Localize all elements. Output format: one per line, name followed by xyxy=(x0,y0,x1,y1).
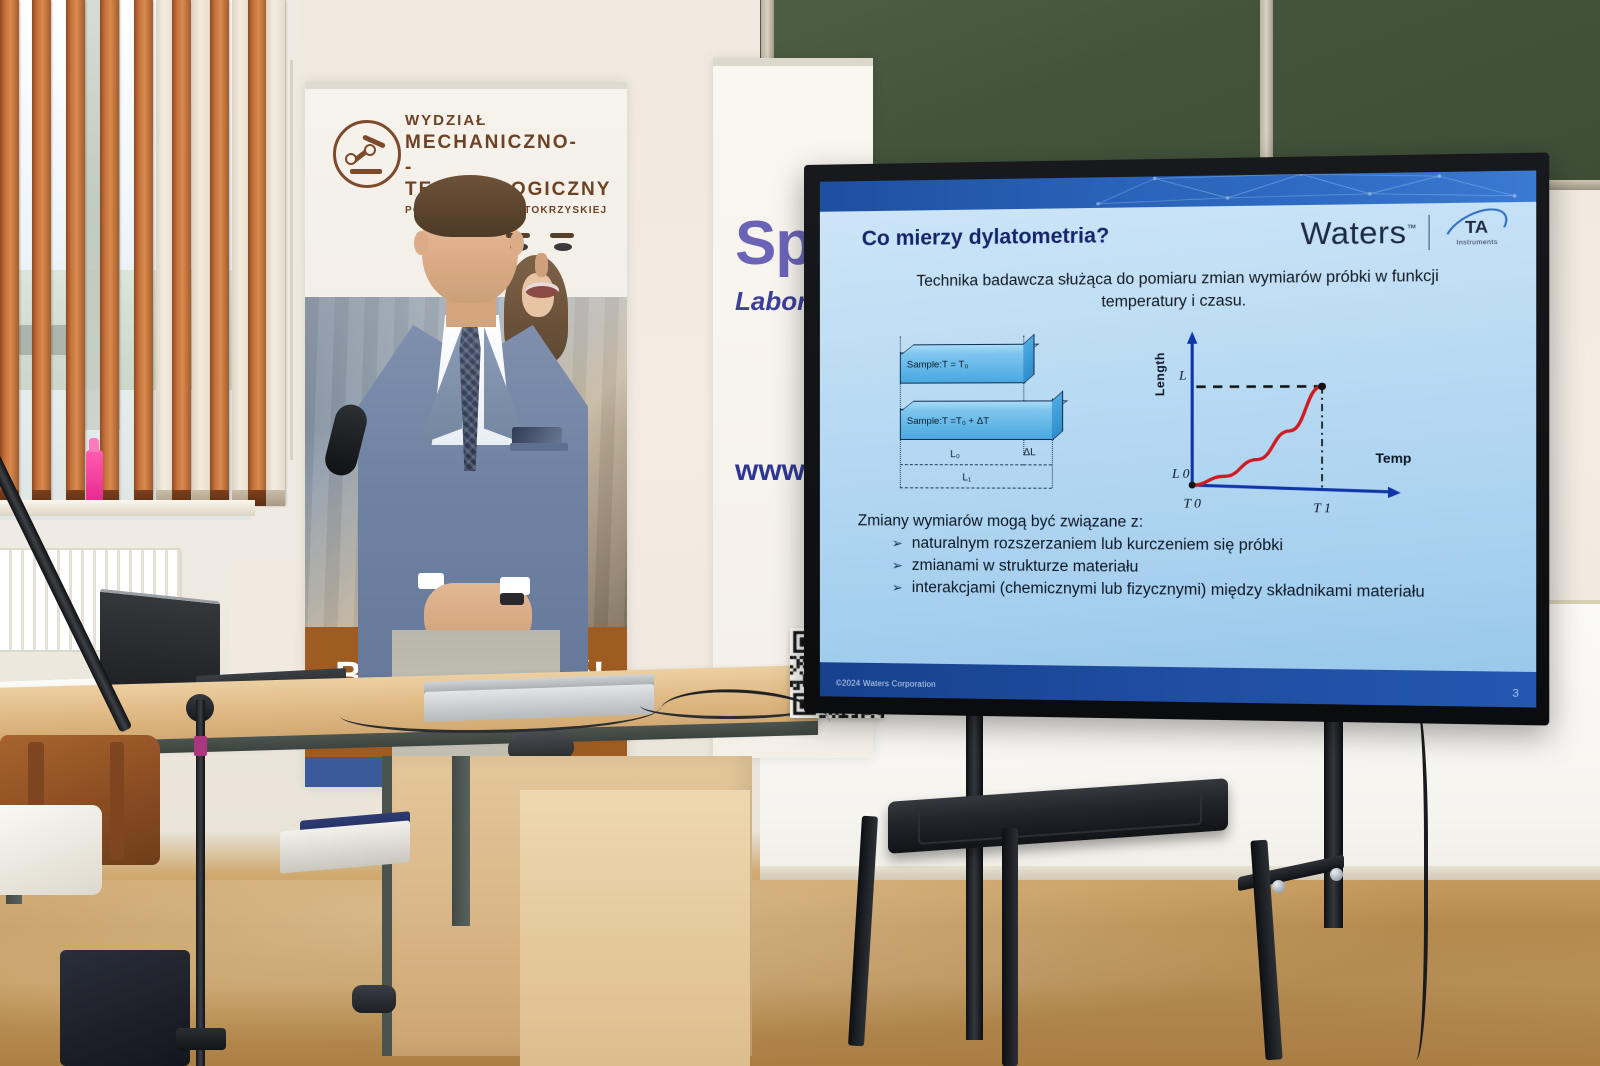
presenter-hair xyxy=(414,175,526,237)
sample-box-initial: Sample:T = T₀ xyxy=(900,352,1025,384)
banner-faculty-line1: WYDZIAŁ xyxy=(405,112,615,129)
presenter xyxy=(350,175,620,695)
blind-slat[interactable] xyxy=(0,0,19,506)
equipment-case[interactable] xyxy=(60,950,190,1066)
sample-box-initial-label: Sample:T = T₀ xyxy=(907,359,968,370)
slide-top-band xyxy=(820,170,1536,211)
slide-bullet-block: Zmiany wymiarów mogą być związane z: ➢ n… xyxy=(858,512,1480,604)
list-item-label: zmianami w strukturze materiału xyxy=(912,555,1139,579)
svg-text:T 0: T 0 xyxy=(1183,495,1201,510)
ta-initials: TA xyxy=(1465,217,1488,238)
blind-slat[interactable] xyxy=(100,0,119,506)
blind-slat[interactable] xyxy=(266,0,285,506)
svg-text:L 0: L 0 xyxy=(1171,466,1190,481)
blind-slat[interactable] xyxy=(192,0,211,506)
svg-text:T 1: T 1 xyxy=(1313,500,1331,516)
blind-slat[interactable] xyxy=(32,0,51,506)
chart-y-axis-label: Length xyxy=(1153,352,1168,396)
svg-text:L: L xyxy=(1178,367,1187,382)
window-area xyxy=(0,0,300,560)
wall-cable xyxy=(290,60,293,460)
sample-box-expanded: Sample:T =T₀ + ΔT xyxy=(900,409,1054,440)
presentation-slide: Co mierzy dylatometria? Waters™ TA Instr… xyxy=(820,170,1536,707)
blind-slat[interactable] xyxy=(210,0,229,506)
banner-lab-top-rail xyxy=(713,58,873,66)
desk-leg xyxy=(452,756,470,926)
shoe xyxy=(352,985,396,1013)
chevron-right-icon: ➢ xyxy=(892,533,903,555)
waters-wordmark: Waters™ xyxy=(1301,214,1417,253)
waters-wordmark-text: Waters xyxy=(1301,214,1407,251)
desk-front-panel xyxy=(520,790,750,1066)
ta-subtitle: Instruments xyxy=(1456,239,1497,247)
chart-x-axis-label: Temp xyxy=(1376,450,1412,466)
wall-display[interactable]: Co mierzy dylatometria? Waters™ TA Instr… xyxy=(804,152,1549,725)
white-bag[interactable] xyxy=(0,805,102,895)
slide-page-number: 3 xyxy=(1512,687,1519,700)
bullets-lead: Zmiany wymiarów mogą być związane z: xyxy=(858,512,1480,534)
sample-box-expanded-label: Sample:T =T₀ + ΔT xyxy=(907,416,989,427)
banner-faculty-top-rail xyxy=(305,82,627,89)
presenter-watch xyxy=(500,593,524,605)
floor xyxy=(0,880,1600,1066)
bolt-icon xyxy=(1272,880,1285,893)
display-screen[interactable]: Co mierzy dylatometria? Waters™ TA Instr… xyxy=(820,170,1536,707)
screenshot-root: Spe Labora www WYDZIAŁ MECHANICZNO- -TEC… xyxy=(0,0,1600,1066)
banner-lab-url: www xyxy=(735,454,805,488)
banner-faculty-line2: MECHANICZNO- xyxy=(405,132,615,154)
ta-instruments-logo: TA Instruments xyxy=(1441,211,1508,253)
blind-slat[interactable] xyxy=(248,0,267,506)
microphone-stand-foot xyxy=(176,1028,226,1050)
chart-svg: LL 0T 0T 1 xyxy=(1155,328,1407,520)
list-item-label: naturalnym rozszerzaniem lub kurczeniem … xyxy=(912,533,1283,558)
dimension-label-l0: L₀ xyxy=(950,449,960,460)
microphone-stand-band xyxy=(194,736,207,756)
power-cable xyxy=(1398,700,1428,1060)
sample-expansion-diagram: Sample:T = T₀ Sample:T =T₀ + ΔT L₀ ΔL L₁ xyxy=(892,335,1147,509)
slide-copyright: ©2024 Waters Corporation xyxy=(836,678,936,689)
chevron-right-icon: ➢ xyxy=(892,555,903,577)
dimension-label-l1: L₁ xyxy=(962,472,971,483)
waters-ta-logo: Waters™ TA Instruments xyxy=(1301,211,1509,255)
blind-slat[interactable] xyxy=(134,0,153,506)
trademark-icon: ™ xyxy=(1407,223,1417,233)
bolt-icon xyxy=(1330,868,1343,881)
slide-title: Co mierzy dylatometria? xyxy=(862,224,1110,251)
list-item: ➢ interakcjami (chemicznymi lub fizyczny… xyxy=(892,577,1480,605)
logo-divider xyxy=(1429,215,1430,250)
length-vs-temp-chart: Length Temp LL 0T 0T 1 xyxy=(1155,328,1407,520)
slide-lead-text: Technika badawcza służąca do pomiaru zmi… xyxy=(888,265,1470,315)
window-sill xyxy=(0,500,255,516)
list-item-label: interakcjami (chemicznymi lub fizycznymi… xyxy=(912,577,1425,604)
tv-stand-leg xyxy=(1002,828,1018,1066)
chevron-right-icon: ➢ xyxy=(892,577,903,599)
spray-bottle[interactable] xyxy=(86,450,103,504)
blind-slat[interactable] xyxy=(66,0,85,506)
dimension-label-dl: ΔL xyxy=(1023,447,1035,458)
blind-slat[interactable] xyxy=(172,0,191,506)
